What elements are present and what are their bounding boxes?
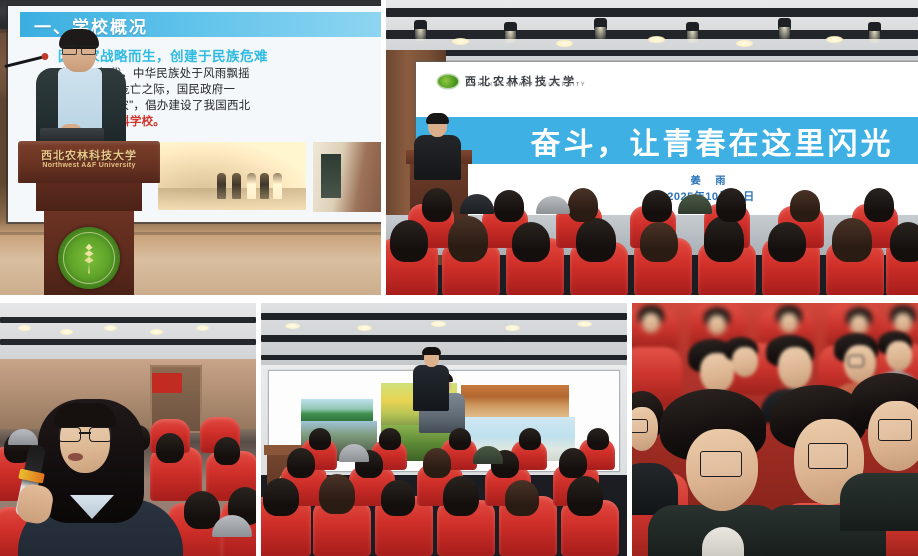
downlight-icon [285,323,300,329]
audience-head [319,474,355,514]
audience-glasses [632,419,648,433]
lectern-top: 西北农林科技大学 Northwest A&F University [18,141,160,183]
audience-head [567,476,603,516]
slide-logo-en: NORTHWEST A&F UNIVERSITY [466,82,586,88]
downlight-icon [60,329,73,335]
spotlight-icon [414,20,427,33]
audience-head [512,222,550,262]
audience-head [559,448,587,478]
audience-member [844,373,918,523]
audience-face [886,341,912,371]
audience-head [568,188,598,222]
student-speaker-figure [30,395,175,556]
speaker-hair [426,113,449,124]
audience-torso [840,473,918,531]
photo-figure [273,173,282,199]
audience-head [423,448,451,478]
photo-hall-title: 西北农林科技大学 NORTHWEST A&F UNIVERSITY 奋斗，让青春… [386,0,918,295]
ceiling-beam [386,8,918,17]
glasses-lens-right [89,427,112,442]
photo-hall-collage [261,303,627,556]
audience-head [505,480,539,516]
audience-head [214,437,240,465]
spotlight-icon [594,18,607,31]
audience-member [636,305,666,335]
audience-head [494,190,524,222]
audience-face [642,313,660,333]
downlight-icon [18,325,31,331]
microphone-flag [18,469,45,484]
audience-face [708,315,726,335]
photo-collage: 一、学校概况 因国家战略而生，创建于民族危难 20世纪30年代，中华民族处于风雨… [0,0,918,556]
speaker-figure [412,115,462,175]
lectern-name-en: Northwest A&F University [18,162,160,169]
student-mouth [68,453,83,461]
lectern: 西北农林科技大学 Northwest A&F University [18,141,160,295]
ceiling-beam [0,339,256,345]
spotlight-icon [868,22,881,35]
speaker-body [413,365,449,411]
ceiling [0,303,256,359]
audience-glasses [848,355,864,367]
audience-shoulders [473,446,503,464]
red-banner [152,373,182,393]
ceiling-beam [261,313,627,320]
audience-member [774,305,804,335]
spotlight-icon [686,22,699,35]
lectern-name-cn: 西北农林科技大学 [18,147,160,163]
audience-shoulders [678,194,712,214]
audience-face [732,347,758,377]
audience-shoulders [536,196,570,214]
downlight-icon [826,36,843,43]
audience-head [449,428,471,450]
photo-figure [232,173,241,199]
audience-head [768,222,806,262]
lectern-neck [36,183,142,211]
ceiling-beam [261,335,627,342]
audience-head [832,218,872,262]
university-logo-icon [438,75,458,88]
audience-head [642,190,672,222]
photo-doorway [321,154,341,198]
downlight-icon [556,40,573,47]
student-glasses [58,427,112,440]
historical-photo-fieldwork [158,142,306,210]
spotlight-icon [778,18,791,31]
audience-head [890,222,918,262]
speaker-glasses [62,45,96,53]
downlight-icon [196,325,209,331]
speaker-hair [422,347,441,355]
audience-head [443,476,479,516]
audience-head [587,428,609,450]
audience-head [576,218,616,262]
downlight-icon [577,321,592,327]
downlight-icon [452,38,469,45]
spotlight-icon [504,22,517,35]
slide-tile-terraced-hills [461,385,569,417]
ceiling-beam [386,50,918,56]
historical-photo-building [313,142,381,212]
downlight-icon [357,325,372,331]
photo-figure [217,173,226,199]
audience-seating [386,180,918,295]
audience-head [390,220,428,262]
student-fringe [54,403,116,427]
ceiling-beam [0,317,256,323]
downlight-icon [736,40,753,47]
photo-figure [247,173,256,199]
glasses-lens-left [58,427,81,442]
audience-head [640,222,678,262]
audience-head [716,188,746,222]
speaker-figure [411,349,451,411]
audience-glasses [878,419,912,441]
audience-head [519,428,541,450]
slide-main-title: 奋斗，让青春在这里闪光 [416,118,918,163]
audience-head [379,428,401,450]
audience-head [381,480,415,516]
slide-tile-mountain-lake [301,399,373,423]
audience-head [704,216,744,262]
downlight-icon [431,321,446,327]
photo-podium-slide: 一、学校概况 因国家战略而生，创建于民族危难 20世纪30年代，中华民族处于风雨… [0,0,381,295]
audience-face [778,347,812,389]
audience-member [702,307,732,337]
audience-shoulders [460,194,494,214]
audience-head [309,428,331,450]
audience-shoulders [339,444,369,462]
audience-head [422,188,452,222]
audience-head [263,478,299,516]
speaker-body [414,135,461,180]
audience-glasses [808,443,848,469]
downlight-icon [648,36,665,43]
photo-figure [260,173,269,199]
audience-head [790,190,820,222]
audience-face [894,313,912,333]
university-seal-icon [58,227,120,289]
downlight-icon [150,329,163,335]
downlight-icon [505,325,520,331]
photo-audience-closeup [632,303,918,556]
audience-head [287,448,315,478]
audience-glasses [700,451,742,477]
slide-logo: 西北农林科技大学 [438,70,577,92]
audience-face [780,313,798,333]
audience-head [864,188,894,222]
photo-student-question [0,303,256,556]
downlight-icon [104,325,117,331]
audience-seating [261,426,627,556]
audience-member [654,389,776,556]
audience-face [850,315,868,335]
audience-head [448,216,488,262]
audience-member [720,337,764,393]
